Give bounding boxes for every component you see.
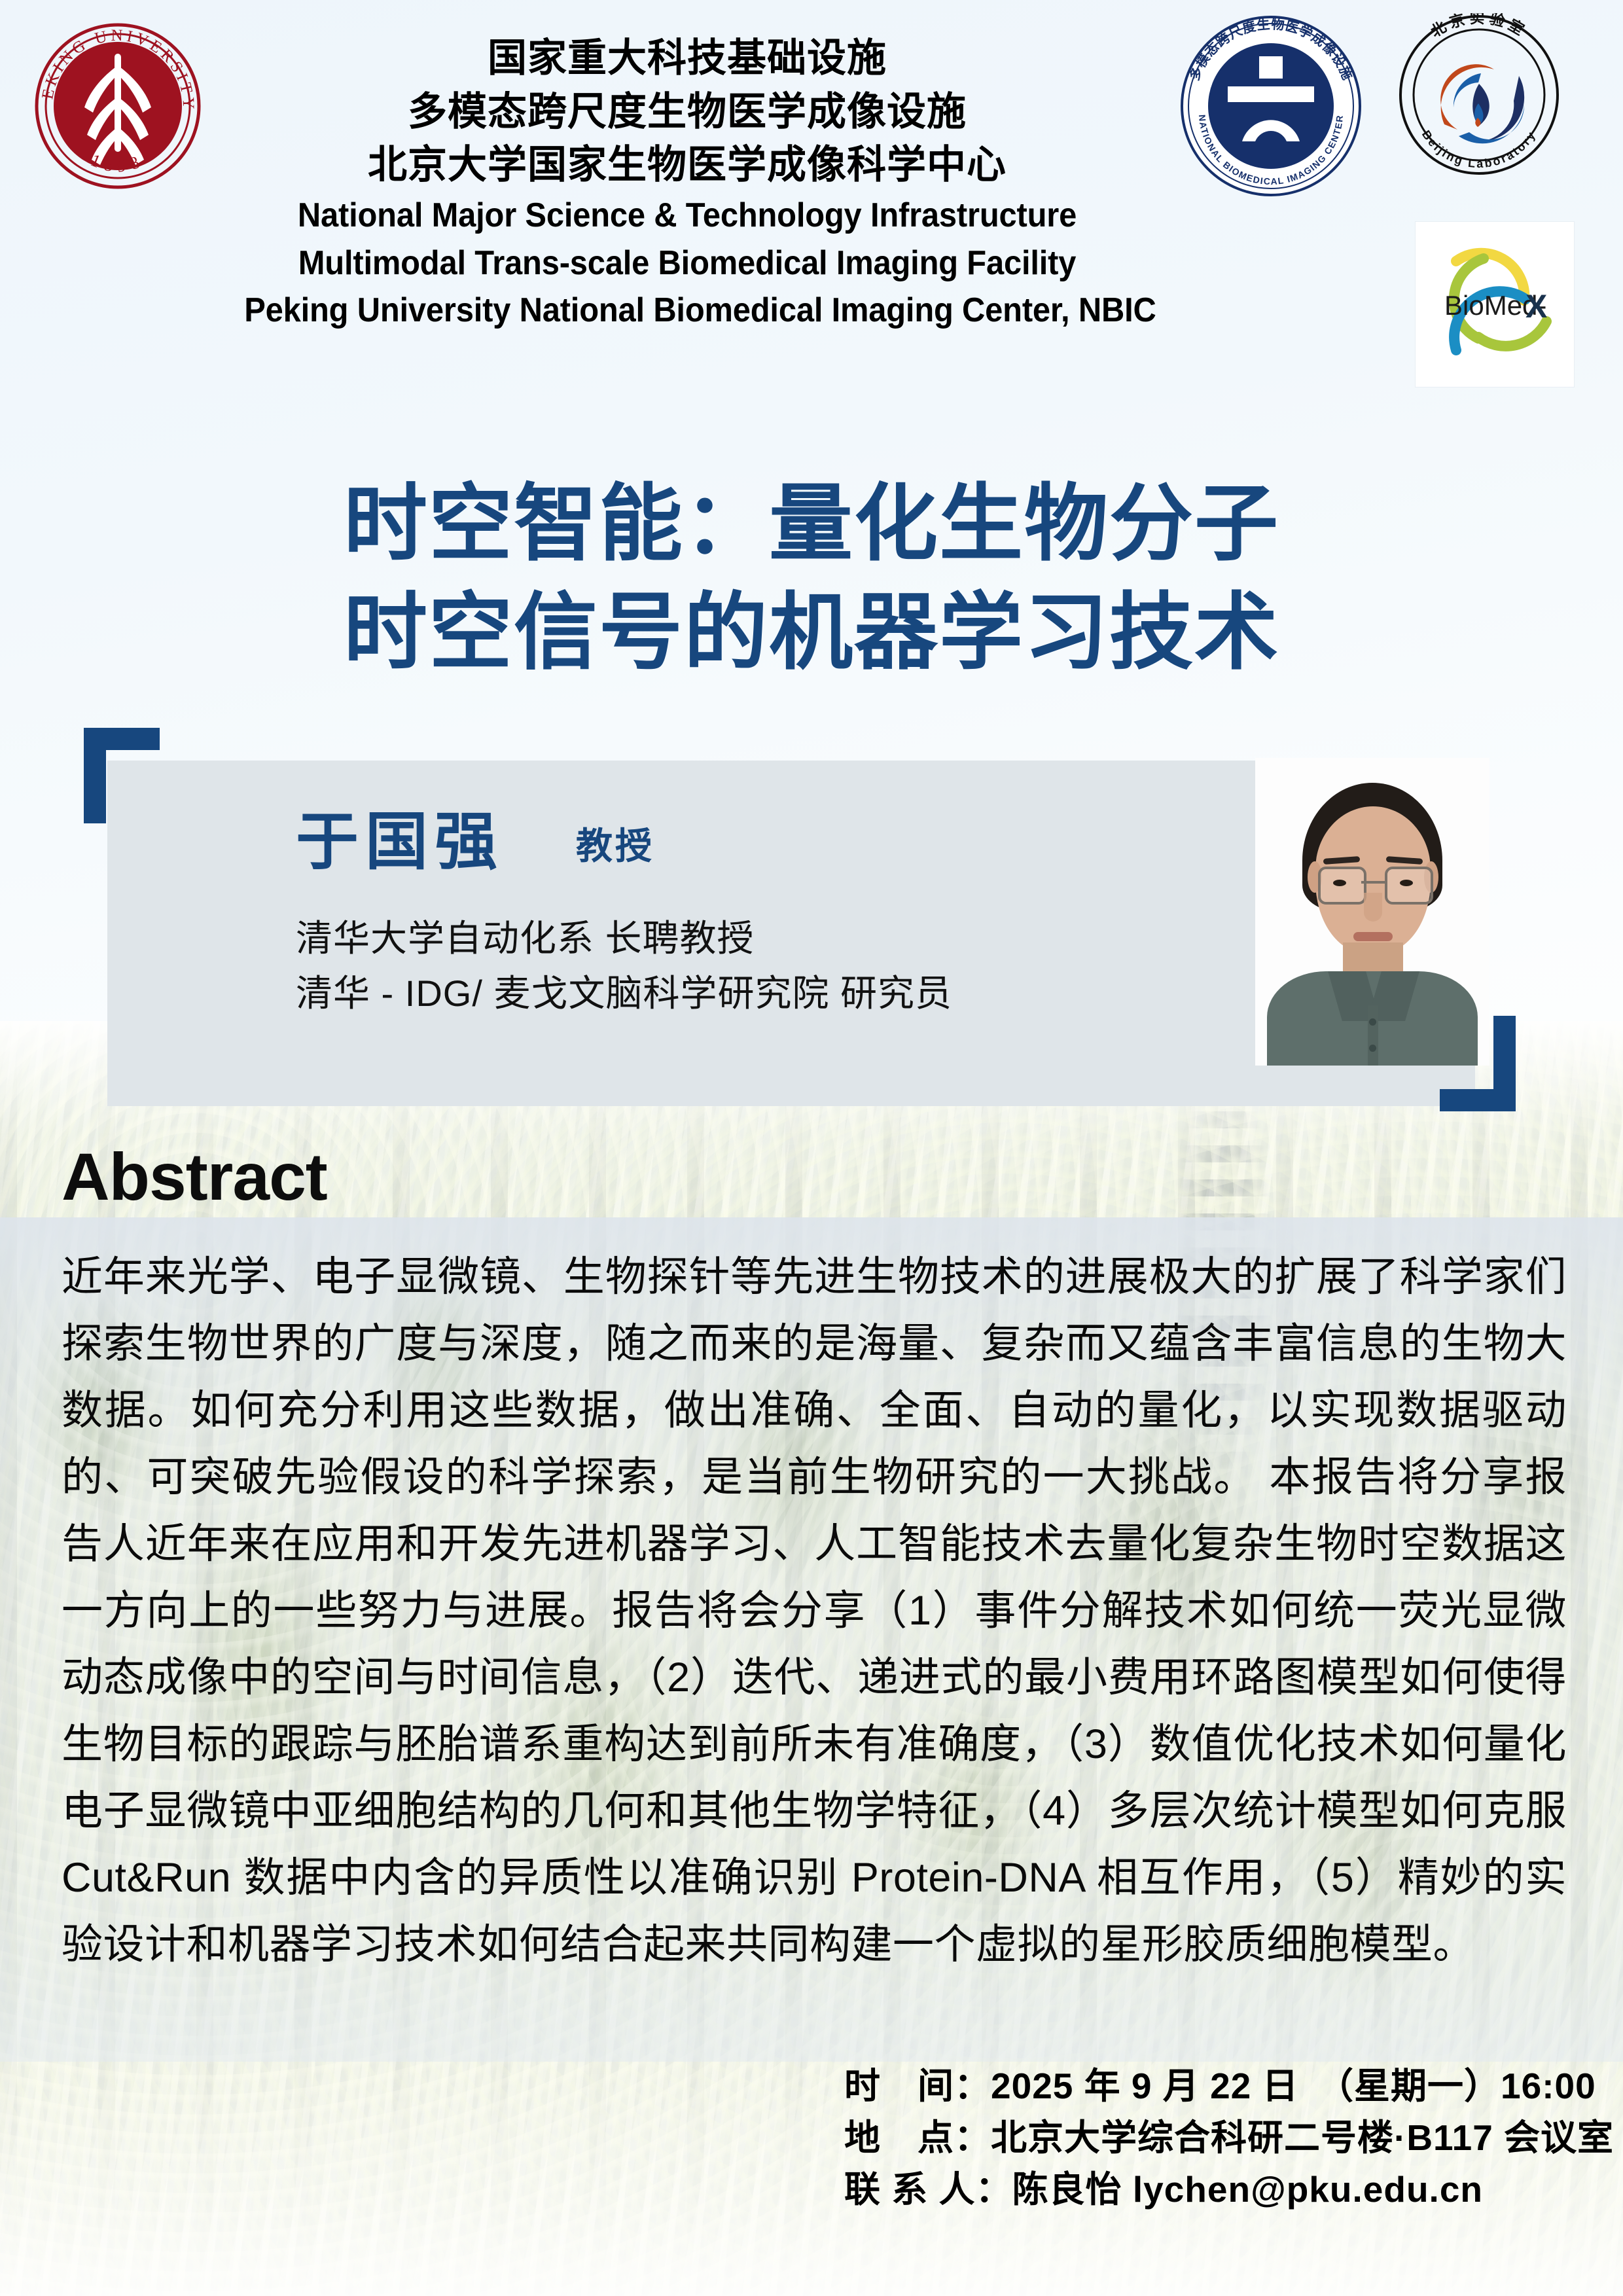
poster-header: PEKING UNIVERSITY 1898 国家重大科技基础设施 多模态跨尺度… [0, 0, 1623, 419]
portrait-button-top [1369, 1018, 1376, 1026]
org-en-line-3: Peking University National Biomedical Im… [244, 287, 1130, 334]
abstract-heading: Abstract [62, 1139, 327, 1215]
speaker-rank: 教授 [576, 817, 654, 870]
org-cn-line-3: 北京大学国家生物医学成像科学中心 [216, 138, 1158, 192]
event-contact-row: 联 系 人：陈良怡 lychen@pku.edu.cn [844, 2164, 1584, 2215]
talk-title-line-2: 时空信号的机器学习技术 [0, 579, 1623, 687]
portrait-mouth [1353, 932, 1393, 941]
org-cn-line-2: 多模态跨尺度生物医学成像设施 [216, 85, 1158, 139]
corner-bracket-top-left [84, 728, 160, 823]
svg-text:北京实验室: 北京实验室 [1428, 13, 1531, 41]
talk-title: 时空智能：量化生物分子 时空信号的机器学习技术 [0, 470, 1623, 688]
speaker-portrait [1255, 758, 1489, 1066]
speaker-affiliation-1: 清华大学自动化系 长聘教授 [296, 911, 1133, 966]
beijing-laboratory-seal-icon: 北京实验室 Beijing Laboratory [1397, 13, 1561, 177]
event-contact-value: 陈良怡 lychen@pku.edu.cn [1012, 2169, 1483, 2210]
portrait-nose [1364, 893, 1382, 922]
org-en-line-1: National Major Science & Technology Infr… [244, 192, 1130, 240]
event-time-row: 时 间：2025 年 9 月 22 日 （星期一）16:00 [844, 2060, 1584, 2112]
event-place-label: 地 点： [844, 2112, 991, 2164]
event-place-row: 地 点：北京大学综合科研二号楼·B117 会议室 [844, 2112, 1584, 2164]
event-place-value: 北京大学综合科研二号楼·B117 会议室 [991, 2117, 1614, 2158]
event-details: 时 间：2025 年 9 月 22 日 （星期一）16:00 地 点：北京大学综… [844, 2060, 1584, 2216]
portrait-glasses-bridge [1361, 881, 1385, 884]
svg-text:X: X [1525, 288, 1547, 325]
portrait-eye-left [1333, 880, 1346, 886]
org-en-line-2: Multimodal Trans-scale Biomedical Imagin… [244, 240, 1130, 287]
portrait-eye-right [1400, 880, 1413, 886]
speaker-affiliations: 清华大学自动化系 长聘教授 清华 - IDG/ 麦戈文脑科学研究院 研究员 [296, 911, 1133, 1021]
portrait-placket [1368, 1005, 1378, 1066]
org-cn-line-1: 国家重大科技基础设施 [216, 31, 1158, 85]
speaker-name: 于国强 [296, 791, 504, 882]
portrait-button-bottom [1369, 1045, 1376, 1052]
abstract-body: 近年来光学、电子显微镜、生物探针等先进生物技术的进展极大的扩展了科学家们探索生物… [62, 1244, 1567, 1979]
organization-names: 国家重大科技基础设施 多模态跨尺度生物医学成像设施 北京大学国家生物医学成像科学… [216, 31, 1158, 334]
event-time-value: 2025 年 9 月 22 日 （星期一）16:00 [991, 2066, 1596, 2106]
biomed-x-logo-icon: BioMed- X [1415, 221, 1575, 387]
talk-title-line-1: 时空智能：量化生物分子 [0, 470, 1623, 579]
event-contact-label: 联 系 人： [844, 2164, 1012, 2215]
peking-university-seal-icon: PEKING UNIVERSITY 1898 [29, 14, 206, 198]
speaker-affiliation-2: 清华 - IDG/ 麦戈文脑科学研究院 研究员 [296, 966, 1133, 1021]
svg-text:Beijing Laboratory: Beijing Laboratory [1419, 128, 1539, 171]
seminar-poster: PEKING UNIVERSITY 1898 国家重大科技基础设施 多模态跨尺度… [0, 0, 1623, 2296]
nbic-seal-icon: 多模态跨尺度生物医学成像设施 NATIONAL BIOMEDICAL IMAGI… [1178, 13, 1364, 200]
event-time-label: 时 间： [844, 2060, 991, 2112]
